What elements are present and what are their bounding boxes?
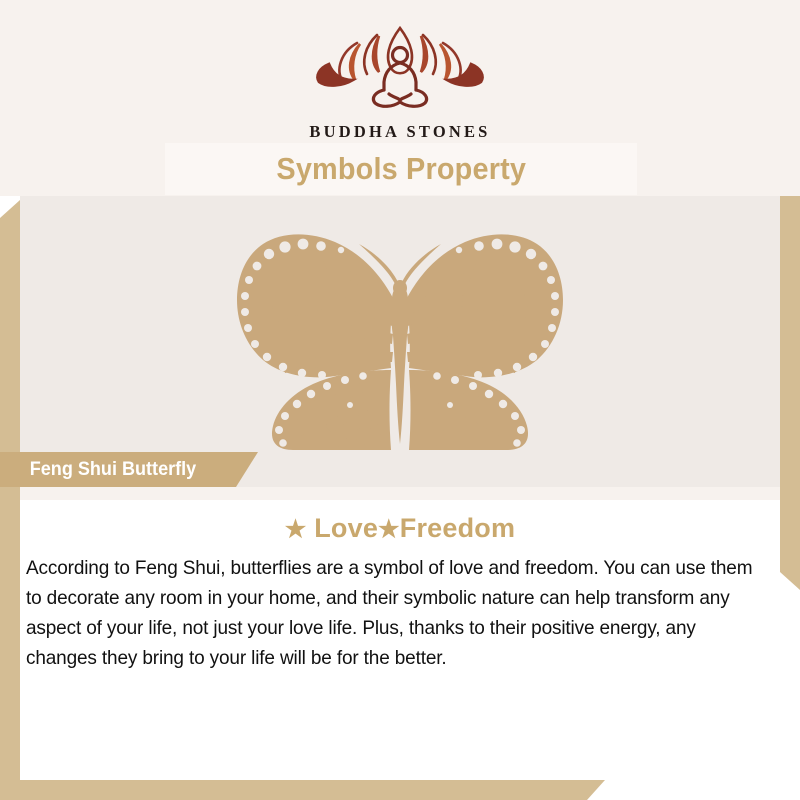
illustration-panel (20, 196, 780, 487)
section-label-text: Feng Shui Butterfly (5, 459, 196, 481)
content-heading: ★ Love★Freedom (20, 513, 780, 544)
divider-strip (20, 487, 780, 500)
brand-name: BUDDHA STONES (309, 122, 490, 142)
lotus-meditation-icon (305, 18, 495, 118)
heading-word-love: Love (314, 513, 378, 543)
frame-left-accent (0, 200, 20, 800)
content-area: ★ Love★Freedom According to Feng Shui, b… (20, 500, 780, 780)
section-label-tag: Feng Shui Butterfly (0, 452, 258, 487)
star-icon-left: ★ (285, 516, 307, 543)
frame-bottom-accent (0, 780, 605, 800)
heading-word-freedom: Freedom (400, 513, 515, 543)
title-band: Symbols Property (165, 143, 637, 195)
brand-logo: BUDDHA STONES (0, 18, 800, 142)
butterfly-illustration (20, 220, 780, 455)
infographic-page: BUDDHA STONES Symbols Property (0, 0, 800, 800)
content-paragraph: According to Feng Shui, butterflies are … (26, 554, 767, 674)
butterfly-icon (205, 220, 595, 455)
page-title: Symbols Property (276, 151, 526, 187)
star-icon-middle: ★ (378, 516, 400, 543)
